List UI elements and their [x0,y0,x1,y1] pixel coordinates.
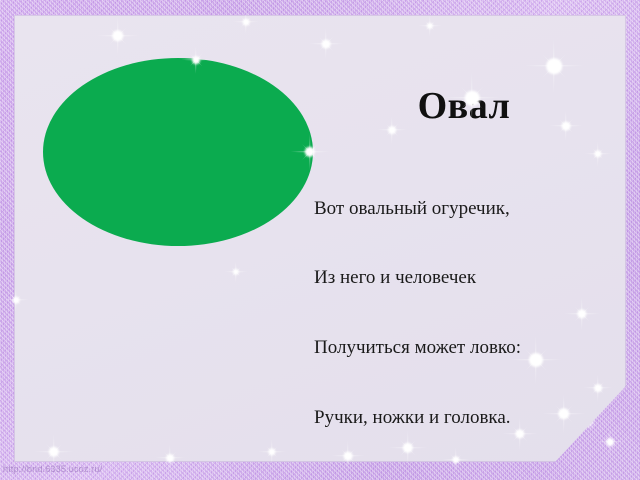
sparkle-icon [595,427,625,457]
poem-line: Из него и человечек [314,266,614,289]
page-title: Овал [314,87,614,125]
poem-line: Получиться может ловко: [314,336,614,359]
poem-line: Ручки, ножки и головка. [314,406,614,429]
poem-text-block: Вот овальный огуречик, Из него и человеч… [314,150,614,462]
slide-canvas: Овал Вот овальный огуречик, Из него и че… [0,0,640,480]
source-watermark: http://bnd.6335.ucoz.ru/ [3,464,102,474]
slide-content-panel: Овал Вот овальный огуречик, Из него и че… [14,15,626,462]
green-oval-shape[interactable] [43,58,313,246]
poem-line: Вот овальный огуречик, [314,197,614,220]
